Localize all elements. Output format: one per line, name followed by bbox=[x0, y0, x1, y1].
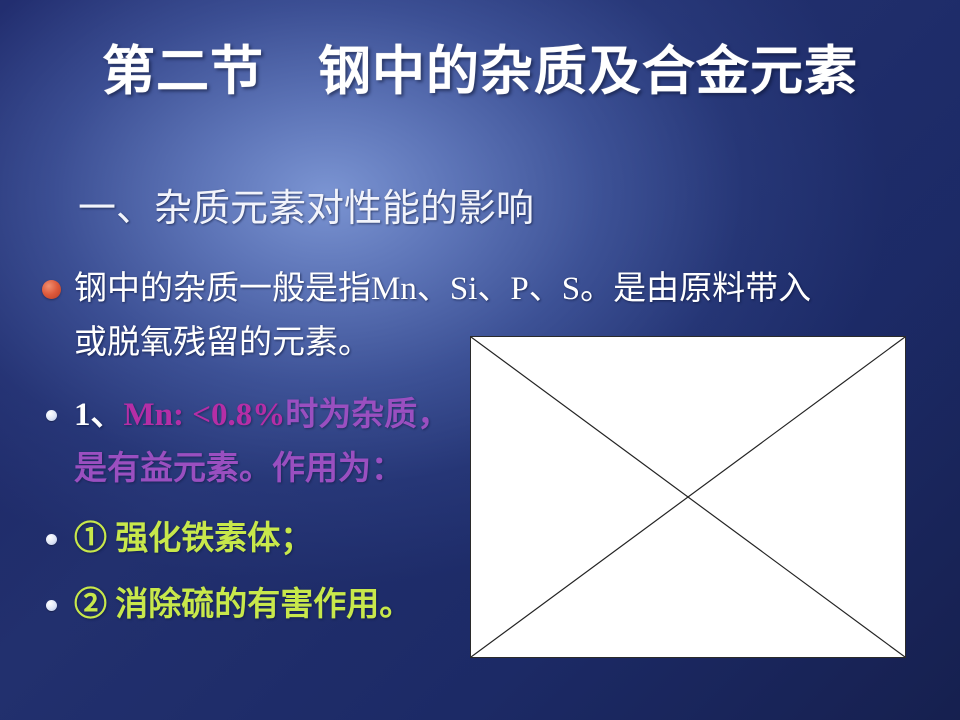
small-white-dot-icon bbox=[46, 410, 57, 421]
round-red-bullet-icon bbox=[42, 280, 61, 299]
slide-title: 第二节 钢中的杂质及合金元素 bbox=[0, 40, 960, 103]
paragraph-1-line-1: 钢中的杂质一般是指Mn、Si、P、S。是由原料带入 bbox=[74, 262, 948, 316]
section-heading: 一、杂质元素对性能的影响 bbox=[78, 186, 534, 234]
paragraph-2-seg-mn-value: Mn: <0.8% bbox=[124, 397, 286, 433]
small-white-dot-icon bbox=[46, 534, 57, 545]
paragraph-2-seg-number: 1、 bbox=[74, 397, 124, 433]
missing-image-placeholder bbox=[470, 336, 906, 658]
paragraph-2-seg-impurity: 时为杂质， bbox=[285, 397, 450, 433]
slide-canvas: 第二节 钢中的杂质及合金元素 一、杂质元素对性能的影响 钢中的杂质一般是指Mn、… bbox=[0, 0, 960, 720]
placeholder-cross-icon bbox=[471, 337, 905, 657]
small-white-dot-icon bbox=[46, 600, 57, 611]
